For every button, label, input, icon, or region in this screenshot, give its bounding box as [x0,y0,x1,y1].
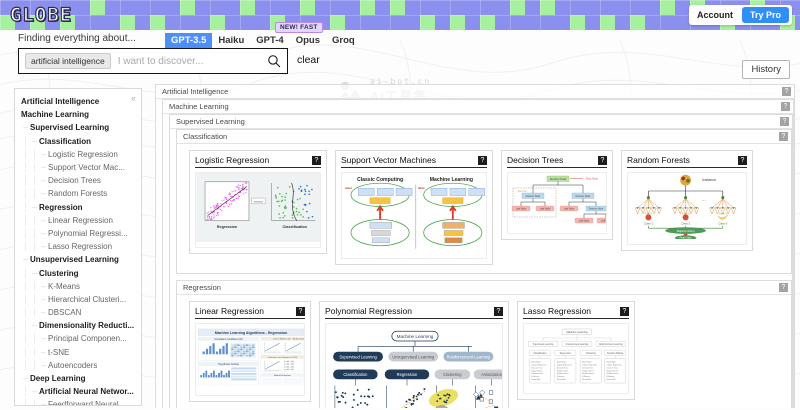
svg-text:Machine Learning Algorithms -: Machine Learning Algorithms - Regression [215,331,288,335]
svg-text:Machine Learning: Machine Learning [430,177,473,183]
section-header[interactable]: Supervised Learning? [170,115,792,129]
help-icon[interactable]: ? [781,102,790,111]
card-header: Lasso Regression? [523,306,629,319]
tree-item[interactable]: ││—Logistic Regression [15,148,141,161]
section-panel: Machine Learning?Supervised Learning?Cla… [162,99,794,408]
thumbnail-random-forest-fruit-voting-diagram: Instance...Tree-1Class-1Tree-2Class-2Tre… [628,173,747,239]
clear-button[interactable]: clear [297,54,320,66]
tree-branch-icon: — [21,374,30,383]
tree-pipe-icon: │ [21,348,30,357]
svg-text:Class-2: Class-2 [681,222,691,226]
topic-card[interactable]: Random Forests?Instance...Tree-1Class-1T… [621,150,753,251]
tree-pipe-icon: │ [21,308,30,317]
tree-pipe-icon: │ [21,334,30,343]
tree-branch-icon: — [30,203,39,212]
svg-text:y = b0 + b1x: y = b0 + b1x [284,366,294,368]
tree-item[interactable]: │—Classification [15,135,141,148]
section-panel: Regression?Linear Regression?Machine Lea… [176,280,792,408]
tree-pipe-icon: │ [30,308,39,317]
search-chip[interactable]: artificial intelligence [25,53,111,69]
tree-pipe-icon: │ [30,229,39,238]
svg-text:Supervised Learning: Supervised Learning [339,354,376,359]
tree-item-label: Deep Learning [30,374,86,383]
tree-pipe-icon: │ [30,295,39,304]
tree-pipe-icon: │ [21,242,30,251]
tree-item-label: Logistic Regression [48,150,118,159]
tree-branch-icon: — [30,269,39,278]
topic-card[interactable]: Decision Trees?Decision NodeRoot NodeSub… [501,150,613,240]
tree-item-label: Decision Trees [48,176,101,185]
card-header: Random Forests? [627,155,747,168]
tree-branch-icon: — [39,348,48,357]
svg-text:Decision Node: Decision Node [550,178,567,181]
card-title: Linear Regression [195,306,264,316]
tree-pipe-icon: │ [21,137,30,146]
svg-text:Root Node: Root Node [586,178,599,181]
svg-text:Leaf Node: Leaf Node [516,209,527,211]
svg-text:Class-3: Class-3 [718,222,728,226]
svg-text:Classic Computing: Classic Computing [357,177,403,183]
tree-pipe-icon: │ [30,176,39,185]
tree-pipe-icon: │ [21,189,30,198]
section-header[interactable]: Machine Learning? [163,100,793,114]
svg-text:Regression: Regression [397,372,418,377]
section-header[interactable]: Classification? [177,130,791,144]
thumbnail-ml-algorithms-regression-poster: Machine Learning Algorithms - Regression… [196,324,305,390]
section-title: Classification [183,132,227,141]
section-header[interactable]: Regression? [177,281,791,295]
svg-text:Final-Class: Final-Class [680,237,693,239]
card-row-regression: Linear Regression?Machine Learning Algor… [177,295,791,408]
svg-text:Decision Making: Decision Making [607,353,624,355]
topic-card[interactable]: Logistic Regression?RegressionversusClas… [189,150,327,254]
svg-text:Tree-3: Tree-3 [719,211,727,215]
tree-pipe-icon: │ [21,216,30,225]
card-title: Decision Trees [507,155,563,165]
tree-pipe-icon: │ [21,150,30,159]
account-controls: Account Try Pro [689,5,792,25]
svg-text:Instance: Instance [702,178,716,182]
tree-branch-icon: — [39,229,48,238]
model-selector[interactable]: GPT-3.5HaikuGPT-4OpusGroq [165,33,361,48]
tree-item[interactable]: ││—Lasso Regression [15,240,141,253]
tree-pipe-icon: │ [21,282,30,291]
section-title: Machine Learning [169,102,229,111]
card-thumbnail: Machine Learning Algorithms - Regression… [195,323,305,396]
search-bar[interactable]: artificial intelligence [18,48,288,74]
section-panel: Artificial Intelligence?Machine Learning… [155,84,795,408]
svg-text:label: label [345,186,352,190]
top-banner: GLOBE Account Try Pro [0,0,800,30]
svg-text:label: label [418,186,425,190]
card-header: Decision Trees? [507,155,607,168]
section-title: Regression [183,283,221,292]
tree-item[interactable]: ││—t-SNE [15,346,141,359]
tree-item-label: Autoencoders [48,361,97,370]
tree-branch-icon: — [39,295,48,304]
svg-text:Decision Node: Decision Node [576,196,591,198]
card-title: Support Vector Machines [341,155,436,165]
tree-pipe-icon: │ [30,400,39,406]
tree-item-label: Artificial Neural Networ... [39,387,134,396]
banner-grid-lines [0,0,800,30]
tree-branch-icon: — [21,255,30,264]
svg-text:...: ... [702,198,706,203]
tree-item[interactable]: ││—K-Means [15,280,141,293]
tree-pipe-icon: │ [30,163,39,172]
card-header: Logistic Regression? [195,155,321,168]
tree-branch-icon: — [21,123,30,132]
tree-item-label: Lasso Regression [48,242,112,251]
svg-text:Leaf Node: Leaf Node [579,221,590,223]
tree-branch-icon: — [30,321,39,330]
help-icon[interactable]: ? [478,156,487,165]
tree-item-label: Polynomial Regressi... [48,229,128,238]
svg-text:Naive Bayes: Naive Bayes [607,361,617,363]
tree-pipe-icon: │ [21,269,30,278]
svg-text:Decision Node: Decision Node [589,209,604,211]
svg-text:Unsupervised Learning: Unsupervised Learning [392,354,434,359]
tree-item[interactable]: │—Dimensionality Reducti... [15,319,141,332]
tree-item-label: Dimensionality Reducti... [39,321,134,330]
try-pro-button[interactable]: Try Pro [742,7,789,23]
svg-text:Classification: Classification [343,372,367,377]
tree-item-label: Regression [39,203,83,212]
card-header: Linear Regression? [195,306,305,319]
svg-text:Regression: Regression [217,225,238,229]
tree-item[interactable]: —Supervised Learning [15,121,141,134]
search-icon[interactable] [267,54,281,68]
card-thumbnail: RegressionversusClassification [195,172,321,248]
card-title: Random Forests [627,155,690,165]
tree-pipe-icon: │ [30,348,39,357]
svg-text:Machine Learning: Machine Learning [397,334,434,339]
svg-text:versus: versus [254,199,264,203]
tree-pipe-icon: │ [30,150,39,159]
tree-pipe-icon: │ [21,387,30,396]
svg-text:Leaf Node: Leaf Node [564,209,575,211]
tree-item[interactable]: ││—Linear Regression [15,214,141,227]
app-logo[interactable]: GLOBE [10,4,72,26]
tree-item[interactable]: —Unsupervised Learning [15,253,141,266]
tree-branch-icon: — [39,189,48,198]
tree-branch-icon: — [39,163,48,172]
tree-branch-icon: — [39,242,48,251]
section-panel: Supervised Learning?Classification?Logis… [169,114,793,408]
svg-text:Naive Bayes: Naive Bayes [582,361,592,363]
tree-pipe-icon: │ [21,163,30,172]
help-icon[interactable]: ? [738,156,747,165]
tree-item-label: Classification [39,137,91,146]
section-title: Artificial Intelligence [162,87,228,96]
svg-text:Naive Bayes: Naive Bayes [531,361,541,363]
tree-item[interactable]: ││—Decision Trees [15,174,141,187]
help-icon[interactable]: ? [779,283,788,292]
svg-text:Classification: Classification [283,225,308,229]
topic-card[interactable]: Lasso Regression?Machine LearningSupervi… [517,301,635,400]
model-tab-haiku[interactable]: Haiku [212,33,250,48]
tree-item[interactable]: │—Clustering [15,266,141,279]
help-icon[interactable]: ? [780,117,789,126]
thumbnail-decision-tree-node-diagram: Decision NodeRoot NodeSub-TreeDecision N… [508,173,607,228]
tree-pipe-icon: │ [30,216,39,225]
tree-item[interactable]: ││—DBSCAN [15,306,141,319]
help-icon[interactable]: ? [494,307,503,316]
thumbnail-machine-learning-taxonomy-chart: Machine LearningSupervised LearningUnsup… [326,324,503,408]
help-icon[interactable]: ? [779,132,788,141]
card-thumbnail: Machine LearningSupervised LearningUnsup… [325,323,503,408]
history-button[interactable]: History [742,60,790,79]
tree-item[interactable]: ││—Random Forests [15,187,141,200]
card-thumbnail: Instance...Tree-1Class-1Tree-2Class-2Tre… [627,172,747,245]
svg-text:Tree-2: Tree-2 [682,211,690,215]
tree-branch-icon: — [39,216,48,225]
svg-text:y = b0 + b1x: y = b0 + b1x [284,361,294,363]
tree-pipe-icon: │ [21,229,30,238]
tree-pipe-icon: │ [21,295,30,304]
card-header: Support Vector Machines? [341,155,487,168]
help-icon[interactable]: ? [620,307,629,316]
search-prompt-label: Finding everything about... [18,33,136,44]
section-title: Supervised Learning [176,117,245,126]
tree-item-label: Unsupervised Learning [30,255,119,264]
help-icon[interactable]: ? [312,156,321,165]
svg-text:Leaf Node: Leaf Node [601,221,607,223]
svg-text:Correlation Coefficient (R): Correlation Coefficient (R) [214,338,243,341]
help-icon[interactable]: ? [782,87,791,96]
section-header[interactable]: Artificial Intelligence? [156,85,794,99]
tree-branch-icon: — [39,308,48,317]
tree-item-label: Random Forests [48,189,107,198]
tree-item[interactable]: │—Regression [15,201,141,214]
tree-item[interactable]: Artificial Intelligence [15,95,141,108]
tree-pipe-icon: │ [21,203,30,212]
thumbnail-classic-computing-vs-machine-learning-flow: Classic ComputingMachine Learninglabella… [342,173,487,253]
card-title: Polynomial Regression [325,306,412,316]
thumbnail-machine-learning-hierarchy-boxes: Machine LearningSupervised LearningUnsup… [524,324,629,388]
nested-panels: Artificial Intelligence?Machine Learning… [155,84,795,408]
svg-text:Tree-1: Tree-1 [644,211,652,215]
tree-branch-icon: — [39,150,48,159]
tree-item-label: Machine Learning [21,110,89,119]
svg-text:Leaf Node: Leaf Node [540,209,551,211]
tree-sidebar: « Artificial IntelligenceMachine Learnin… [14,88,142,406]
tree-pipe-icon: │ [30,189,39,198]
tree-item[interactable]: Machine Learning [15,108,141,121]
search-zone: Finding everything about... GPT-3.5Haiku… [0,30,800,83]
svg-text:Machine Learning: Machine Learning [567,330,589,334]
tree-item[interactable]: ││—Autoencoders [15,359,141,372]
card-row-classification: Logistic Regression?RegressionversusClas… [177,144,791,273]
svg-text:Decision Node: Decision Node [526,196,541,198]
tree-item-label: Linear Regression [48,216,113,225]
card-title: Lasso Regression [523,306,591,316]
card-header: Polynomial Regression? [325,306,503,319]
svg-text:Hypothesis Testing: Hypothesis Testing [218,363,239,366]
model-tab-gpt-3-5[interactable]: GPT-3.5 [165,33,212,48]
section-panel: Classification?Logistic Regression?Regre… [176,129,792,274]
card-title: Logistic Regression [195,155,269,165]
model-tab-gpt-4[interactable]: GPT-4 [250,33,289,48]
tree-item-label: Supervised Learning [30,123,109,132]
tree-item-label: Artificial Intelligence [21,97,99,106]
search-input[interactable] [111,55,267,68]
card-thumbnail: Decision NodeRoot NodeSub-TreeDecision N… [507,172,607,234]
tree-pipe-icon: │ [30,334,39,343]
tree-item-label: K-Means [48,282,80,291]
tree-pipe-icon: │ [21,321,30,330]
svg-text:y = b0 + b1x: y = b0 + b1x [284,369,294,371]
help-icon[interactable]: ? [296,307,305,316]
model-tab-opus[interactable]: Opus [290,33,326,48]
card-thumbnail: Classic ComputingMachine Learninglabella… [341,172,487,259]
tree-item-label: Support Vector Mac... [48,163,125,172]
tree-item-label: Clustering [39,269,79,278]
topic-card[interactable]: Support Vector Machines?Classic Computin… [335,150,493,265]
tree-branch-icon: — [39,334,48,343]
svg-text:Majority-Voting: Majority-Voting [677,229,695,233]
account-button[interactable]: Account [692,8,738,22]
tree-item-label: DBSCAN [48,308,81,317]
tree-pipe-icon: │ [30,242,39,251]
tree-pipe-icon: │ [21,400,30,406]
tree-item-label: Feedforward Neural ... [48,400,128,406]
tree-branch-icon: — [39,176,48,185]
tree-branch-icon: — [30,387,39,396]
tree-item[interactable]: ││—Principal Componen... [15,332,141,345]
main-content: Artificial Intelligence?Machine Learning… [155,84,795,408]
tree-pipe-icon: │ [30,361,39,370]
tree-item-label: Hierarchical Clusteri... [48,295,126,304]
tree-item[interactable]: ││—Feedforward Neural ... [15,398,141,406]
svg-text:Clustering: Clustering [443,372,461,377]
help-icon[interactable]: ? [598,156,607,165]
svg-text:Class-1: Class-1 [644,222,654,226]
svg-text:Naive Bayes: Naive Bayes [557,361,567,363]
tree-item[interactable]: ││—Support Vector Mac... [15,161,141,174]
card-thumbnail: Machine LearningSupervised LearningUnsup… [523,323,629,394]
tree-item[interactable]: ││—Hierarchical Clusteri... [15,293,141,306]
svg-text:Association: Association [481,372,502,377]
thumbnail-regression-vs-classification-scatter: RegressionversusClassification [196,173,321,242]
tree-item[interactable]: —Deep Learning [15,372,141,385]
new-fast-badge: NEW! FAST [275,22,323,33]
tree-branch-icon: — [39,361,48,370]
tree-pipe-icon: │ [21,361,30,370]
svg-text:y = b0 + b1x: y = b0 + b1x [284,364,294,366]
tree-item-label: t-SNE [48,348,69,357]
tree-pipe-icon: │ [21,176,30,185]
topic-card[interactable]: Linear Regression?Machine Learning Algor… [189,301,311,402]
svg-text:Reinforcement Learning: Reinforcement Learning [447,354,491,359]
tree-item[interactable]: ││—Polynomial Regressi... [15,227,141,240]
taxonomy-tree: Artificial IntelligenceMachine Learning—… [15,95,141,406]
topic-card[interactable]: Polynomial Regression?Machine LearningSu… [319,301,509,408]
model-tab-groq[interactable]: Groq [326,33,361,48]
tree-item-label: Principal Componen... [48,334,127,343]
tree-pipe-icon: │ [30,282,39,291]
tree-branch-icon: — [30,137,39,146]
tree-branch-icon: — [39,282,48,291]
tree-branch-icon: — [39,400,48,406]
tree-item[interactable]: │—Artificial Neural Networ... [15,385,141,398]
